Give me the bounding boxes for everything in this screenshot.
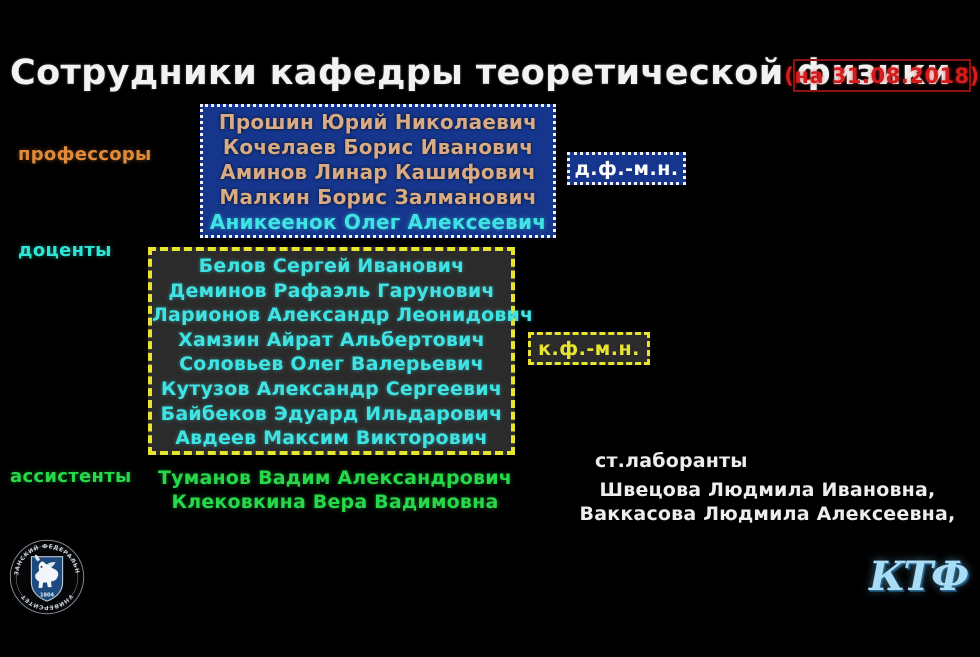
category-label-lab-assistants: ст.лаборанты — [595, 450, 748, 472]
docent-name: Байбеков Эдуард Ильдарович — [152, 402, 511, 427]
docent-name: Авдеев Максим Викторович — [152, 426, 511, 451]
docent-name: Ларионов Александр Леонидович — [152, 303, 511, 328]
kfu-seal-logo: КАЗАНСКИЙ ФЕДЕРАЛЬНЫЙ УНИВЕРСИТЕТ 1804 — [8, 538, 86, 616]
assistant-name: Туманов Вадим Александрович — [150, 466, 520, 490]
category-label-assistants: ассистенты — [10, 466, 132, 487]
category-label-docents: доценты — [18, 240, 112, 261]
professor-name: Прошин Юрий Николаевич — [203, 110, 553, 135]
category-label-professors: профессоры — [18, 144, 152, 165]
page-title: Сотрудники кафедры теоретической физики — [10, 50, 780, 96]
professors-box: Прошин Юрий Николаевич Кочелаев Борис Ив… — [200, 104, 556, 238]
docent-name: Соловьев Олег Валерьевич — [152, 352, 511, 377]
professor-name: Кочелаев Борис Иванович — [203, 135, 553, 160]
docent-name: Кутузов Александр Сергеевич — [152, 377, 511, 402]
professor-name: Малкин Борис Залманович — [203, 185, 553, 210]
assistants-list: Туманов Вадим Александрович Клековкина В… — [150, 466, 520, 514]
assistant-name: Клековкина Вера Вадимовна — [150, 490, 520, 514]
docent-name: Белов Сергей Иванович — [152, 254, 511, 279]
svg-text:1804: 1804 — [40, 593, 55, 599]
docent-name: Хамзин Айрат Альбертович — [152, 328, 511, 353]
degree-badge-candidate: к.ф.-м.н. — [528, 332, 650, 365]
professor-name: Аминов Линар Кашифович — [203, 160, 553, 185]
date-badge: (на 31.08.2018) — [793, 59, 971, 92]
docent-name: Деминов Рафаэль Гарунович — [152, 279, 511, 304]
docents-box: Белов Сергей Иванович Деминов Рафаэль Га… — [148, 247, 515, 455]
ktf-logo: КТФ — [862, 545, 974, 607]
lab-assistant-name: Ваккасова Людмила Алексеевна, — [560, 502, 975, 526]
degree-badge-doctor: д.ф.-м.н. — [567, 152, 686, 185]
lab-assistant-name: Швецова Людмила Ивановна, — [560, 478, 975, 502]
presentation-slide: Сотрудники кафедры теоретической физики … — [0, 0, 980, 657]
lab-assistants-list: Швецова Людмила Ивановна, Ваккасова Людм… — [560, 478, 975, 526]
professor-name: Аникеенок Олег Алексеевич — [203, 210, 553, 235]
